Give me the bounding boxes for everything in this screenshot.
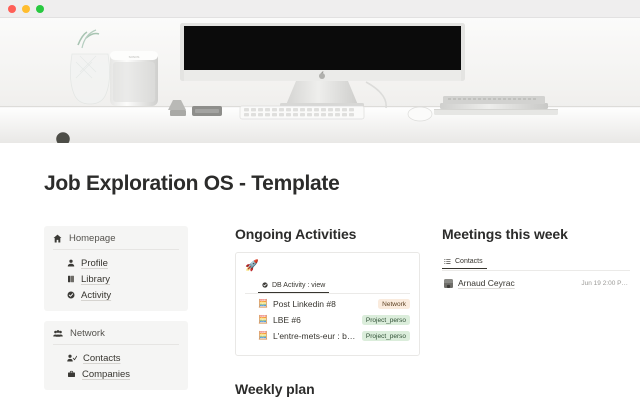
check-circle-icon [67,291,75,299]
ongoing-activities-heading: Ongoing Activities [235,226,420,242]
close-button[interactable] [8,5,16,13]
person-check-icon [67,354,77,362]
sidebar-column: Homepage Profile Library [44,226,188,400]
contact-name: Arnaud Ceyrac [458,278,576,288]
abacus-icon: 🧮 [258,300,268,308]
sidebar-label-network: Network [70,328,105,339]
table-row[interactable]: 🧮 Post Linkedin #8 Network [245,296,410,312]
activity-name: L'entre-mets-eur : build the … [273,331,357,341]
page-content: Job Exploration OS - Template Homepage [0,172,640,400]
app-window: SONOS [0,0,640,400]
meetings-heading: Meetings this week [442,226,630,242]
briefcase-icon [67,370,76,378]
sidebar-item-library[interactable]: Library [53,271,179,287]
svg-text:SONOS: SONOS [129,55,140,59]
people-group-icon [53,329,63,338]
main-column: Ongoing Activities 🚀 DB Activity : view … [188,226,420,400]
avatar [444,279,453,288]
tab-divider [245,293,410,294]
sidebar-item-network[interactable]: Network [53,328,179,345]
abacus-icon: 🧮 [258,316,268,324]
sidebar-label-profile: Profile [81,258,108,269]
sidebar-label-homepage: Homepage [69,233,115,244]
status-badge: Project_perso [362,315,410,325]
nav-group-network: Network Contacts [44,321,188,390]
abacus-icon: 🧮 [258,332,268,340]
table-row[interactable]: 🧮 LBE #6 Project_perso [245,312,410,328]
sidebar-label-library: Library [81,274,110,285]
check-circle-icon [262,282,268,288]
weekly-plan-heading: Weekly plan [235,381,420,397]
nav-group-homepage: Homepage Profile Library [44,226,188,311]
tab-label-db-activity: DB Activity : view [272,282,325,289]
activity-name: LBE #6 [273,315,357,325]
sidebar-item-contacts[interactable]: Contacts [53,350,179,366]
maximize-button[interactable] [36,5,44,13]
sidebar-item-activity[interactable]: Activity [53,287,179,303]
window-titlebar [0,0,640,18]
tab-label-contacts: Contacts [455,258,483,265]
sidebar-label-activity: Activity [81,290,111,301]
table-row[interactable]: 🧮 L'entre-mets-eur : build the … Project… [245,328,410,344]
tab-contacts[interactable]: Contacts [442,258,487,269]
meeting-date: Jun 19 2:00 P… [581,280,628,287]
meetings-divider [442,270,630,271]
sidebar-item-homepage[interactable]: Homepage [53,233,179,250]
sidebar-item-profile[interactable]: Profile [53,255,179,271]
person-icon [67,259,75,267]
book-icon [67,275,75,283]
sidebar-item-companies[interactable]: Companies [53,366,179,382]
person-silhouette-icon[interactable] [46,128,80,143]
page-cover-image[interactable]: SONOS [0,18,640,143]
rocket-icon: 🚀 [245,261,410,272]
page-title: Job Exploration OS - Template [44,172,640,196]
minimize-button[interactable] [22,5,30,13]
activity-name: Post Linkedin #8 [273,299,373,309]
status-badge: Network [378,299,410,309]
page-columns: Homepage Profile Library [0,226,640,400]
status-badge: Project_perso [362,331,410,341]
sidebar-label-contacts: Contacts [83,353,121,364]
sidebar-label-companies: Companies [82,369,130,380]
ongoing-activities-card: 🚀 DB Activity : view 🧮 Post Linkedin #8 … [235,252,420,356]
cover-illustration: SONOS [0,18,640,143]
right-column: Meetings this week Contacts [420,226,630,400]
tab-db-activity-view[interactable]: DB Activity : view [258,282,329,293]
list-item[interactable]: Arnaud Ceyrac Jun 19 2:00 P… [442,274,630,292]
home-icon [53,234,62,243]
list-icon [444,258,451,265]
